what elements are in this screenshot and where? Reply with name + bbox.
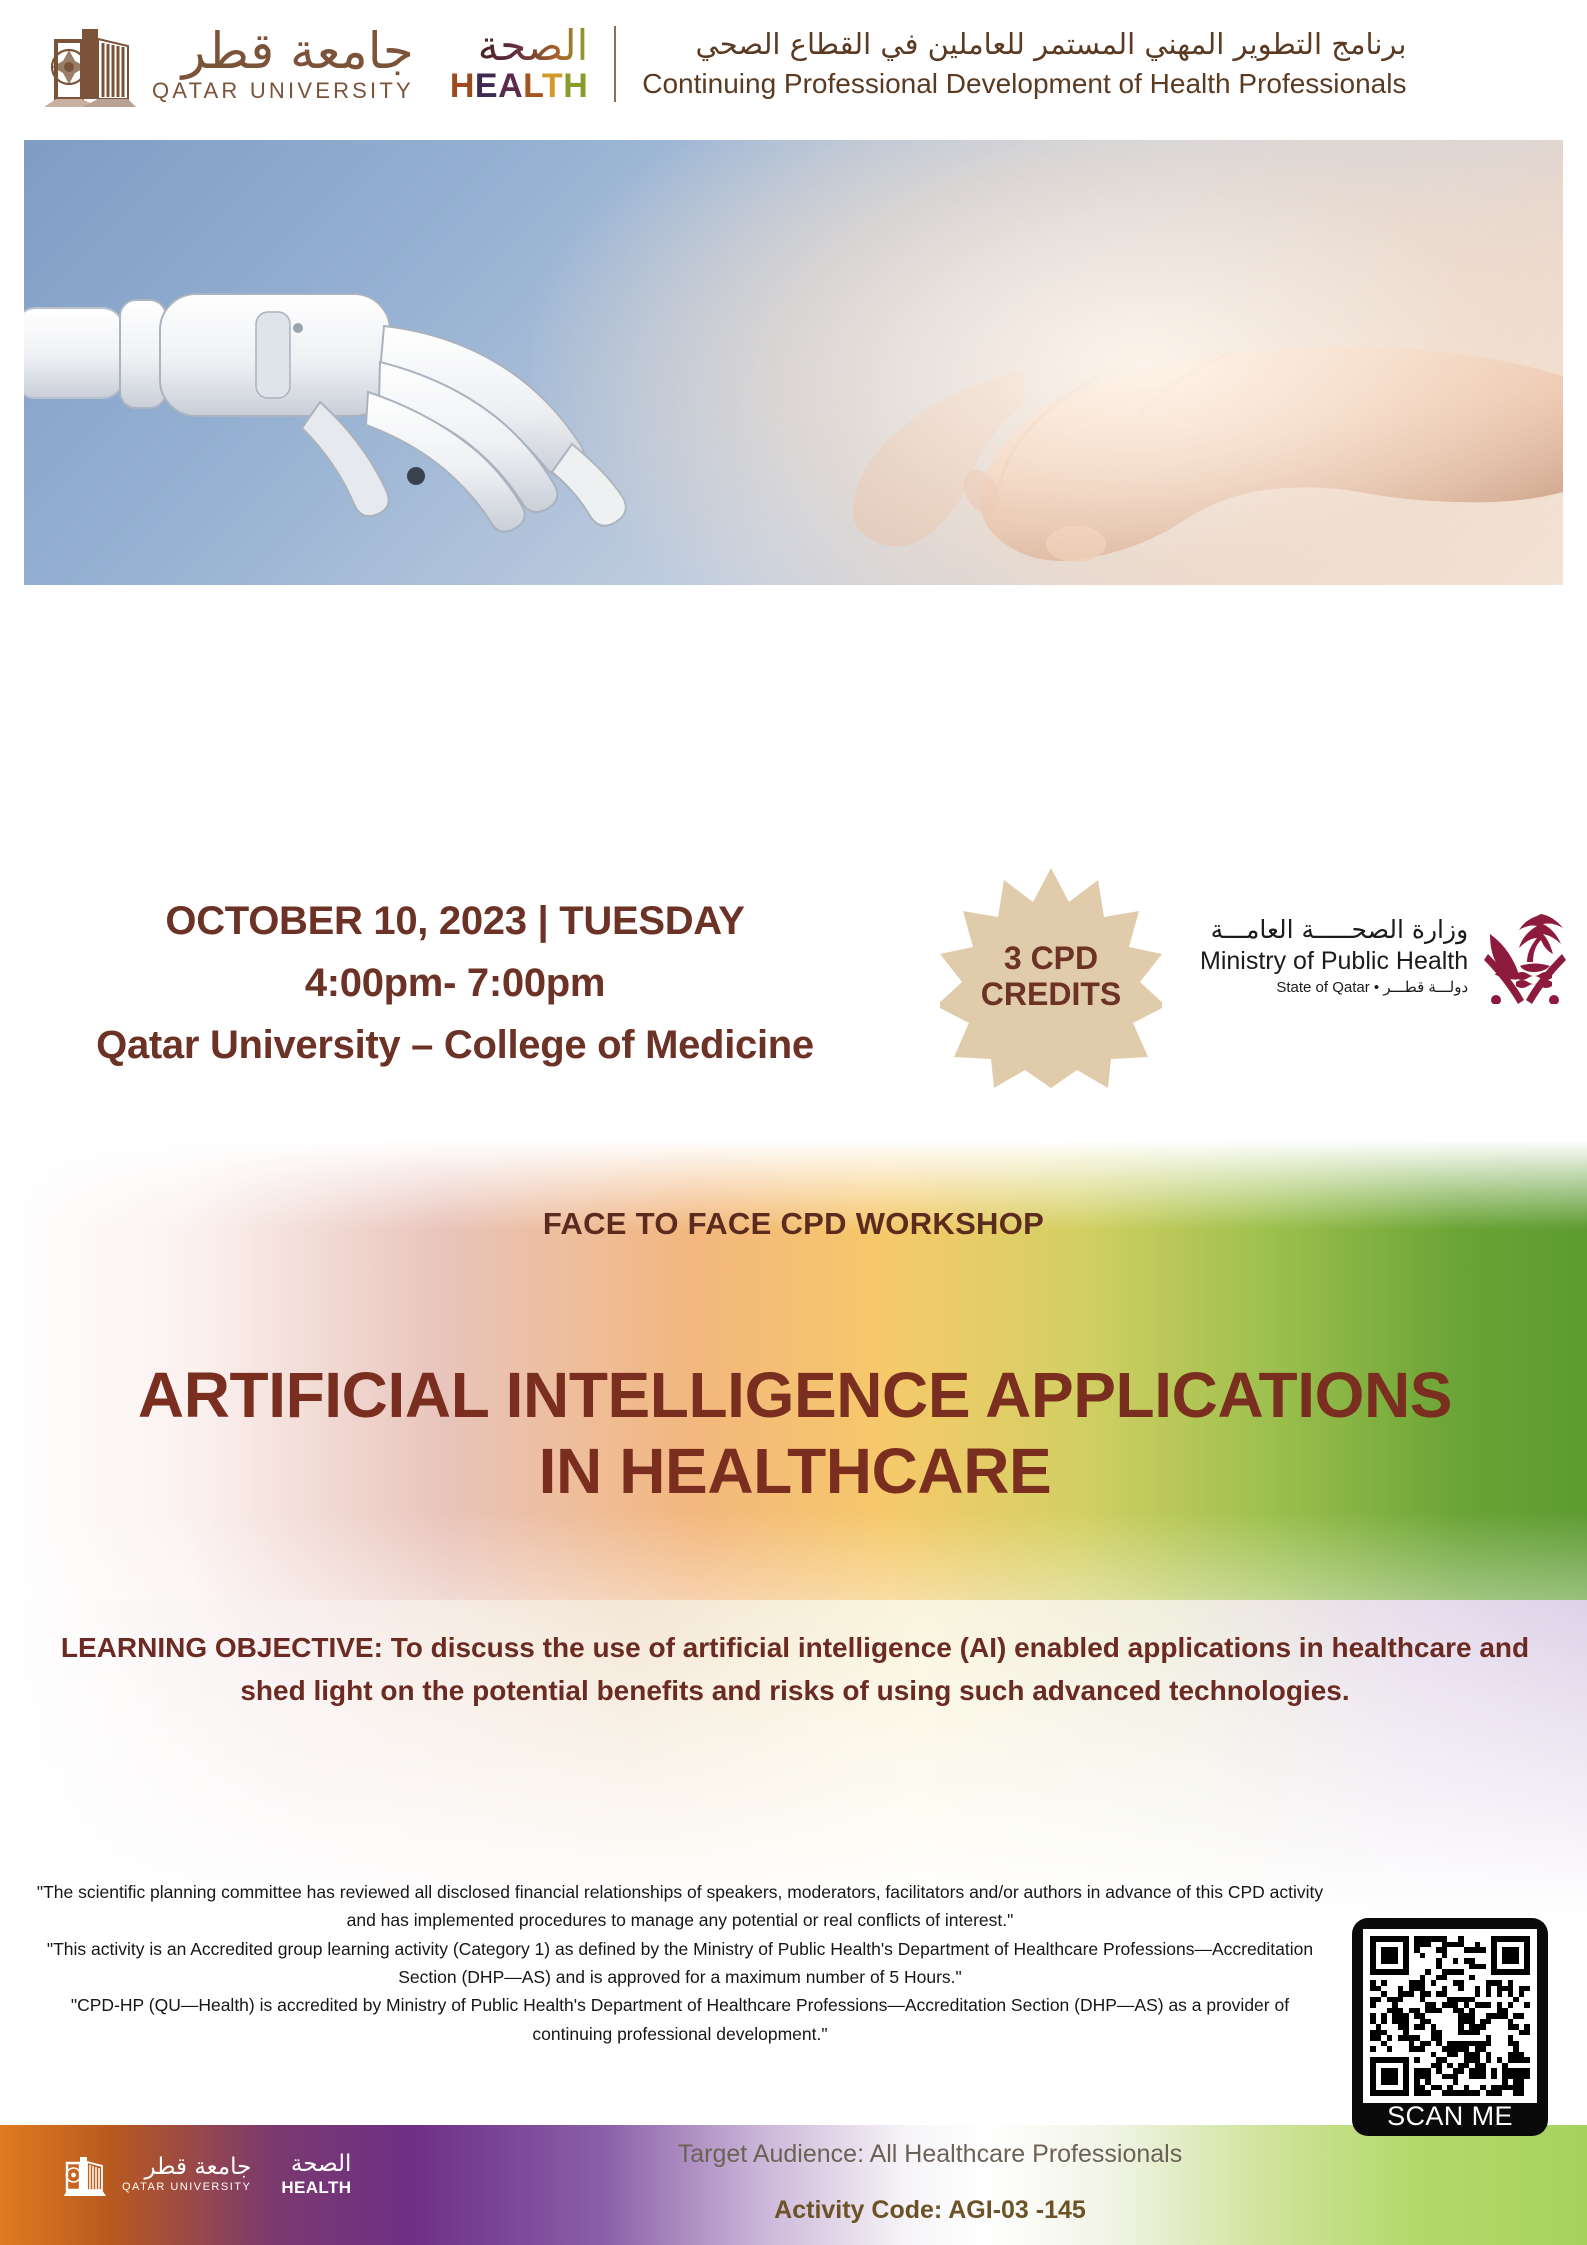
title-line-1: ARTIFICIAL INTELLIGENCE APPLICATIONS [90,1358,1500,1434]
qatar-university-logo: جامعة قطر QATAR UNIVERSITY [44,21,414,107]
header-divider [614,26,616,102]
cpd-credits-badge: 3 CPD CREDITS [940,866,1162,1088]
cpd-credits-line2: CREDITS [981,977,1121,1013]
moph-wordmark: وزارة الصحـــــة العامـــة Ministry of P… [1200,916,1468,996]
footer-qu-english: QATAR UNIVERSITY [122,2182,251,2193]
poster-root: جامعة قطر QATAR UNIVERSITY الصحة HEALTH … [0,0,1587,2245]
scan-me-label: SCAN ME [1352,2101,1548,2132]
poster-header: جامعة قطر QATAR UNIVERSITY الصحة HEALTH … [0,0,1587,128]
moph-arabic-name: وزارة الصحـــــة العامـــة [1211,916,1469,945]
event-time: 4:00pm- 7:00pm [40,952,870,1014]
moph-english-name: Ministry of Public Health [1200,947,1468,976]
event-date: OCTOBER 10, 2023 | TUESDAY [40,890,870,952]
event-details: OCTOBER 10, 2023 | TUESDAY 4:00pm- 7:00p… [40,890,870,1076]
cpd-arabic-title: برنامج التطوير المهني المستمر للعاملين ف… [642,28,1406,61]
footer-qu-arabic: جامعة قطر [122,2156,251,2179]
title-line-2: IN HEALTHCARE [90,1434,1500,1510]
qatar-university-book-icon [44,21,136,107]
moph-state-label: State of Qatar • دولـــة قطـــر [1276,979,1468,996]
activity-code-label: Activity Code: AGI-03 -145 [560,2196,1300,2225]
page-title: ARTIFICIAL INTELLIGENCE APPLICATIONS IN … [90,1358,1500,1509]
footer-qu-wordmark: جامعة قطر QATAR UNIVERSITY [122,2156,251,2193]
footer-logos: جامعة قطر QATAR UNIVERSITY الصحة HEALTH [62,2153,351,2196]
qu-health-logo: الصحة HEALTH [450,25,588,103]
target-audience-label: Target Audience: All Healthcare Professi… [560,2140,1300,2169]
cpd-english-title: Continuing Professional Development of H… [642,68,1406,100]
ministry-of-public-health-logo: وزارة الصحـــــة العامـــة Ministry of P… [1200,908,1568,1004]
hero-image [24,140,1563,585]
disclaimer-paragraph-3: "CPD-HP (QU—Health) is accredited by Min… [30,1991,1330,2048]
cpd-credits-text: 3 CPD CREDITS [940,866,1162,1088]
footer-health-wordmark: الصحة HEALTH [281,2153,351,2196]
qr-code-card[interactable]: SCAN ME [1352,1918,1548,2136]
disclaimer-paragraph-2: "This activity is an Accredited group le… [30,1935,1330,1992]
footer-qatar-university-icon [62,2154,106,2196]
qr-code-image [1363,1929,1537,2103]
footer-health-english: HEALTH [281,2179,351,2196]
accreditation-disclaimer: "The scientific planning committee has r… [30,1878,1330,2048]
footer-health-arabic: الصحة [281,2153,351,2176]
qu-english-name: QATAR UNIVERSITY [152,80,414,102]
cpd-credits-line1: 3 CPD [1004,941,1098,977]
qr-code-modules [1370,1936,1530,2096]
qu-arabic-name: جامعة قطر [152,26,414,76]
health-arabic-name: الصحة [450,25,588,67]
learning-objective: LEARNING OBJECTIVE: To discuss the use o… [60,1626,1530,1713]
cpd-program-name: برنامج التطوير المهني المستمر للعاملين ف… [642,28,1406,100]
event-venue: Qatar University – College of Medicine [40,1014,870,1076]
workshop-kicker: FACE TO FACE CPD WORKSHOP [0,1206,1587,1242]
qatar-university-wordmark: جامعة قطر QATAR UNIVERSITY [152,26,414,102]
health-english-name: HEALTH [450,69,588,103]
disclaimer-paragraph-1: "The scientific planning committee has r… [30,1878,1330,1935]
qatar-crest-icon [1482,908,1568,1004]
hero-glow [532,140,1563,585]
